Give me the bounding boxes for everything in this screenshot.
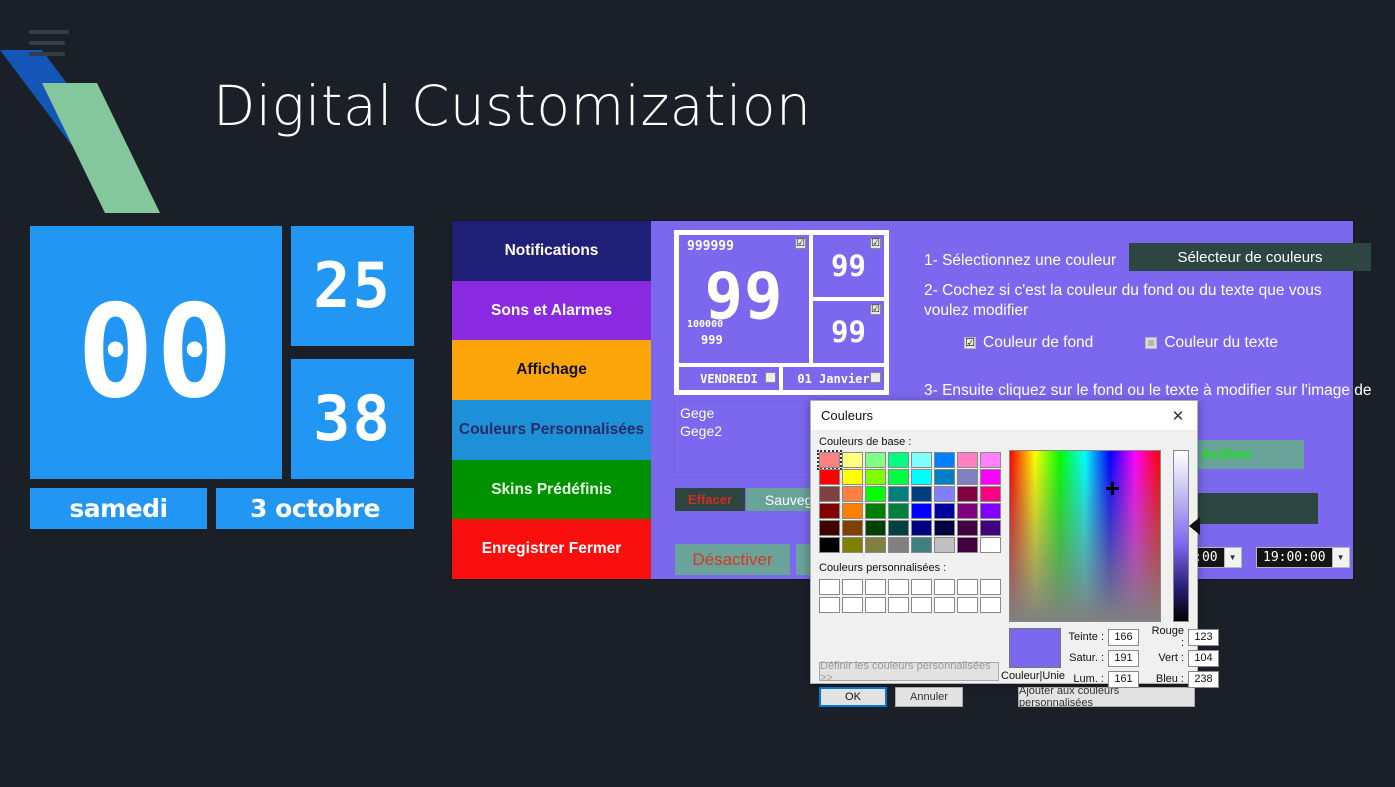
custom-color-slot[interactable] xyxy=(957,579,978,595)
instruction-step-3: 3- Ensuite cliquez sur le fond ou le tex… xyxy=(924,381,1384,401)
hamburger-icon[interactable] xyxy=(29,30,69,61)
sidebar-item-couleurs-personnalisees[interactable]: Couleurs Personnalisées xyxy=(452,400,651,460)
preview-minutes: 99 xyxy=(831,249,866,283)
hamburger-bar xyxy=(29,30,69,34)
close-icon[interactable]: ✕ xyxy=(1159,401,1197,430)
base-color-swatch[interactable] xyxy=(957,503,978,519)
base-color-swatch[interactable] xyxy=(911,503,932,519)
color-picker-dialog: Couleurs ✕ Couleurs de base : Couleurs p… xyxy=(810,400,1198,684)
color-field-row: Teinte : 166 Rouge : 123 xyxy=(1067,628,1219,646)
preview-seconds: 99 xyxy=(831,315,866,349)
checkbox-label: Couleur de fond xyxy=(983,334,1093,352)
checkbox-couleur-de-fond[interactable]: ☑ Couleur de fond xyxy=(964,334,1093,352)
base-color-swatch[interactable] xyxy=(888,452,909,468)
base-color-swatch[interactable] xyxy=(819,503,840,519)
color-field-row: Satur. : 191 Vert : 104 xyxy=(1067,649,1219,667)
teinte-label: Teinte : xyxy=(1067,631,1108,643)
clock-date-panel: 3 octobre xyxy=(216,488,414,529)
selecteur-de-couleurs-button[interactable]: Sélecteur de couleurs xyxy=(1129,243,1371,271)
base-color-swatch[interactable] xyxy=(865,537,886,553)
base-color-swatch[interactable] xyxy=(980,503,1001,519)
preview-date-checkbox[interactable]: ☑ xyxy=(870,372,881,383)
custom-color-slot[interactable] xyxy=(980,597,1001,613)
rouge-value[interactable]: 123 xyxy=(1188,629,1219,646)
sidebar-item-skins-predefinis[interactable]: Skins Prédéfinis xyxy=(452,460,651,520)
rouge-label: Rouge : xyxy=(1147,625,1188,649)
clock-date: 3 octobre xyxy=(250,494,380,523)
preview-hours-panel[interactable]: 999999 99 100000 999 ☑ xyxy=(679,235,809,363)
custom-color-slot[interactable] xyxy=(865,579,886,595)
custom-color-slot[interactable] xyxy=(980,579,1001,595)
sidebar-item-label: Skins Prédéfinis xyxy=(491,481,612,499)
cancel-button[interactable]: Annuler xyxy=(895,687,963,707)
clock-minutes-panel: 25 xyxy=(291,226,414,346)
clock-weekday-panel: samedi xyxy=(30,488,207,529)
base-color-swatch[interactable] xyxy=(819,452,840,468)
preview-weekday: VENDREDI xyxy=(700,372,758,386)
effacer-button[interactable]: Effacer xyxy=(675,488,745,511)
base-color-swatch[interactable] xyxy=(842,520,863,536)
base-color-swatch[interactable] xyxy=(819,520,840,536)
base-color-swatch[interactable] xyxy=(934,537,955,553)
preview-top-digits: 999999 xyxy=(687,239,734,254)
sidebar-item-label: Enregistrer Fermer xyxy=(482,540,622,558)
checkbox-couleur-du-texte[interactable]: Couleur du texte xyxy=(1145,334,1278,352)
end-time-value[interactable]: 19:00:00 xyxy=(1256,547,1333,568)
preview-date-panel[interactable]: 01 Janvier ☑ xyxy=(783,367,884,390)
base-color-swatch[interactable] xyxy=(888,503,909,519)
bleu-value[interactable]: 238 xyxy=(1188,671,1219,688)
custom-color-slot[interactable] xyxy=(934,579,955,595)
base-color-swatch[interactable] xyxy=(842,486,863,502)
sidebar-item-affichage[interactable]: Affichage xyxy=(452,340,651,400)
base-color-swatch[interactable] xyxy=(842,503,863,519)
solid-color-label: Couleur|Unie xyxy=(1001,670,1065,682)
sidebar-item-label: Affichage xyxy=(516,361,587,379)
color-field-row: Lum. : 161 Bleu : 238 xyxy=(1067,670,1219,688)
custom-color-slot[interactable] xyxy=(957,597,978,613)
sidebar-item-label: Couleurs Personnalisées xyxy=(459,421,644,439)
base-color-swatch[interactable] xyxy=(980,469,1001,485)
base-color-swatch[interactable] xyxy=(865,452,886,468)
base-color-swatch[interactable] xyxy=(842,469,863,485)
checkbox-label: Couleur du texte xyxy=(1164,334,1278,352)
base-color-swatch[interactable] xyxy=(865,503,886,519)
base-color-swatch[interactable] xyxy=(957,486,978,502)
custom-color-slot[interactable] xyxy=(842,579,863,595)
preview-bottom-digits-2: 999 xyxy=(701,333,723,347)
sidebar-item-enregistrer-fermer[interactable]: Enregistrer Fermer xyxy=(452,519,651,579)
custom-color-slot[interactable] xyxy=(819,597,840,613)
base-color-swatch[interactable] xyxy=(888,520,909,536)
custom-color-slot[interactable] xyxy=(819,579,840,595)
page-title: Digital Customization xyxy=(213,74,811,138)
base-color-swatch[interactable] xyxy=(957,537,978,553)
chevron-down-icon[interactable]: ▼ xyxy=(1225,547,1242,568)
teinte-value[interactable]: 166 xyxy=(1108,629,1139,646)
base-color-swatch[interactable] xyxy=(865,520,886,536)
base-color-swatch[interactable] xyxy=(888,469,909,485)
preview-hours-checkbox[interactable]: ☑ xyxy=(795,238,806,249)
preview-minutes-checkbox[interactable]: ☑ xyxy=(870,238,881,249)
clock-weekday: samedi xyxy=(69,494,167,523)
base-color-swatch[interactable] xyxy=(842,452,863,468)
clock-minutes: 25 xyxy=(291,226,414,346)
custom-color-slot[interactable] xyxy=(911,579,932,595)
vert-label: Vert : xyxy=(1147,652,1188,664)
sidebar-item-notifications[interactable]: Notifications xyxy=(452,221,651,281)
base-color-swatch[interactable] xyxy=(911,486,932,502)
dialog-body: Couleurs de base : Couleurs personnalisé… xyxy=(811,430,1197,619)
preview-seconds-panel[interactable]: 99 ☑ xyxy=(813,301,884,363)
clock-preview[interactable]: 999999 99 100000 999 ☑ 99 ☑ 99 ☑ VENDRED… xyxy=(674,230,889,395)
base-color-swatch[interactable] xyxy=(819,469,840,485)
checkbox-box[interactable]: ☑ xyxy=(964,337,976,349)
base-colors-label: Couleurs de base : xyxy=(819,436,1189,448)
chevron-down-icon[interactable]: ▼ xyxy=(1333,547,1350,568)
lum-value[interactable]: 161 xyxy=(1108,671,1139,688)
preview-seconds-checkbox[interactable]: ☑ xyxy=(870,304,881,315)
base-color-swatch[interactable] xyxy=(911,469,932,485)
base-color-swatch[interactable] xyxy=(888,486,909,502)
app-sidebar-menu: Notifications Sons et Alarmes Affichage … xyxy=(452,221,651,579)
color-value-fields: Teinte : 166 Rouge : 123 Satur. : 191 Ve… xyxy=(1067,628,1219,691)
dialog-title: Couleurs xyxy=(821,408,873,423)
dialog-title-bar[interactable]: Couleurs ✕ xyxy=(811,401,1197,430)
sidebar-item-sons-et-alarmes[interactable]: Sons et Alarmes xyxy=(452,281,651,341)
base-color-swatch[interactable] xyxy=(911,520,932,536)
current-color-preview xyxy=(1009,628,1061,668)
sidebar-item-label: Sons et Alarmes xyxy=(491,302,612,320)
satur-value[interactable]: 191 xyxy=(1108,650,1139,667)
vert-value[interactable]: 104 xyxy=(1188,650,1219,667)
base-color-swatch[interactable] xyxy=(980,537,1001,553)
saturation-gradient xyxy=(1010,451,1160,621)
custom-color-slot[interactable] xyxy=(842,597,863,613)
desactiver-button[interactable]: Désactiver xyxy=(675,544,790,575)
base-color-swatch[interactable] xyxy=(934,520,955,536)
lum-label: Lum. : xyxy=(1067,673,1108,685)
preview-minutes-panel[interactable]: 99 ☑ xyxy=(813,235,884,297)
base-color-swatch[interactable] xyxy=(819,537,840,553)
custom-color-slot[interactable] xyxy=(865,597,886,613)
base-color-swatch[interactable] xyxy=(865,469,886,485)
base-color-swatch[interactable] xyxy=(888,537,909,553)
preview-weekday-checkbox[interactable]: ☑ xyxy=(765,372,776,383)
custom-color-slot[interactable] xyxy=(911,597,932,613)
base-color-swatch[interactable] xyxy=(980,452,1001,468)
base-color-swatch[interactable] xyxy=(934,469,955,485)
base-color-swatch[interactable] xyxy=(911,452,932,468)
clock-widget: 00 25 38 samedi 3 octobre xyxy=(30,226,415,530)
satur-label: Satur. : xyxy=(1067,652,1108,664)
luminosity-bar[interactable] xyxy=(1173,450,1189,622)
checkbox-box[interactable] xyxy=(1145,337,1157,349)
custom-color-slot[interactable] xyxy=(934,597,955,613)
color-target-checkbox-row: ☑ Couleur de fond Couleur du texte xyxy=(924,334,1384,352)
clock-hours-panel: 00 xyxy=(30,226,282,479)
preview-bottom-digits-1: 100000 xyxy=(687,319,723,330)
custom-color-slot[interactable] xyxy=(888,597,909,613)
end-time-spinner[interactable]: 19:00:00 ▼ xyxy=(1256,547,1350,568)
base-color-swatch[interactable] xyxy=(980,486,1001,502)
screenshot-root: Digital Customization 00 25 38 samedi 3 … xyxy=(0,0,1395,787)
hue-saturation-field[interactable] xyxy=(1009,450,1161,622)
base-color-swatch[interactable] xyxy=(865,486,886,502)
bleu-label: Bleu : xyxy=(1147,673,1188,685)
define-custom-colors-button[interactable]: Définir les couleurs personnalisées >> xyxy=(819,662,999,681)
instruction-step-2: 2- Cochez si c'est la couleur du fond ou… xyxy=(924,281,1364,321)
base-color-swatch[interactable] xyxy=(911,537,932,553)
preview-date: 01 Janvier xyxy=(797,372,869,386)
instruction-step-1: 1- Sélectionnez une couleur xyxy=(924,251,1116,271)
base-color-swatch[interactable] xyxy=(934,452,955,468)
ok-button[interactable]: OK xyxy=(819,687,887,707)
preview-weekday-panel[interactable]: VENDREDI ☑ xyxy=(679,367,779,390)
base-color-swatch[interactable] xyxy=(934,486,955,502)
luminosity-arrow-icon[interactable] xyxy=(1189,517,1200,535)
custom-color-slot[interactable] xyxy=(888,579,909,595)
hamburger-bar xyxy=(29,41,65,45)
clock-hours: 00 xyxy=(77,289,235,417)
base-color-swatch[interactable] xyxy=(934,503,955,519)
base-color-swatch[interactable] xyxy=(819,486,840,502)
base-color-swatch[interactable] xyxy=(957,469,978,485)
base-color-swatch[interactable] xyxy=(957,452,978,468)
hamburger-bar xyxy=(29,52,65,56)
base-color-swatch[interactable] xyxy=(842,537,863,553)
clock-seconds-panel: 38 xyxy=(291,359,414,479)
clock-seconds: 38 xyxy=(291,359,414,479)
base-color-swatch[interactable] xyxy=(957,520,978,536)
base-color-swatch[interactable] xyxy=(980,520,1001,536)
sidebar-item-label: Notifications xyxy=(505,242,599,260)
